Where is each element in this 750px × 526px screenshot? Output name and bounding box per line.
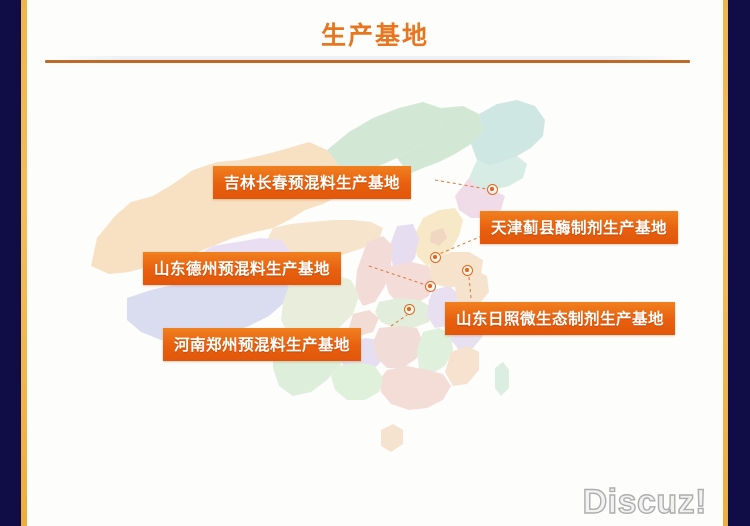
page-root: 生产基地 <box>0 0 750 526</box>
region-guangdong <box>379 366 451 410</box>
pin-tianjin-jixian[interactable] <box>430 252 443 265</box>
label-jilin-changchun[interactable]: 吉林长春预混料生产基地 <box>213 166 411 199</box>
title-underline <box>45 60 690 63</box>
label-shandong-rizhao[interactable]: 山东日照微生态制剂生产基地 <box>445 302 675 335</box>
page-title: 生产基地 <box>27 16 723 52</box>
label-shandong-dezhou[interactable]: 山东德州预混料生产基地 <box>143 252 341 285</box>
map-pin-icon <box>462 265 473 276</box>
content-card: 生产基地 <box>27 0 723 526</box>
map-pin-icon <box>487 184 498 195</box>
label-henan-zhengzhou[interactable]: 河南郑州预混料生产基地 <box>163 328 361 361</box>
discuz-watermark: Discuz! <box>583 483 707 522</box>
map-pin-icon <box>425 281 436 292</box>
frame-right-band <box>728 0 750 526</box>
frame-left-band <box>0 0 21 526</box>
map-pin-icon <box>404 304 415 315</box>
label-tianjin-jixian[interactable]: 天津蓟县酶制剂生产基地 <box>480 211 678 244</box>
region-heilongjiang <box>471 100 545 166</box>
pin-shandong-rizhao[interactable] <box>462 265 475 278</box>
map-pin-icon <box>430 252 441 263</box>
region-taiwan <box>495 362 509 396</box>
china-map-svg <box>27 70 723 526</box>
region-hainan <box>381 424 403 452</box>
region-guangxi <box>331 362 383 400</box>
pin-shandong-dezhou[interactable] <box>425 281 438 294</box>
pin-jilin-changchun[interactable] <box>487 184 500 197</box>
map-stage: 吉林长春预混料生产基地 天津蓟县酶制剂生产基地 山东德州预混料生产基地 山东日照… <box>27 70 723 526</box>
pin-henan-zhengzhou[interactable] <box>404 304 417 317</box>
